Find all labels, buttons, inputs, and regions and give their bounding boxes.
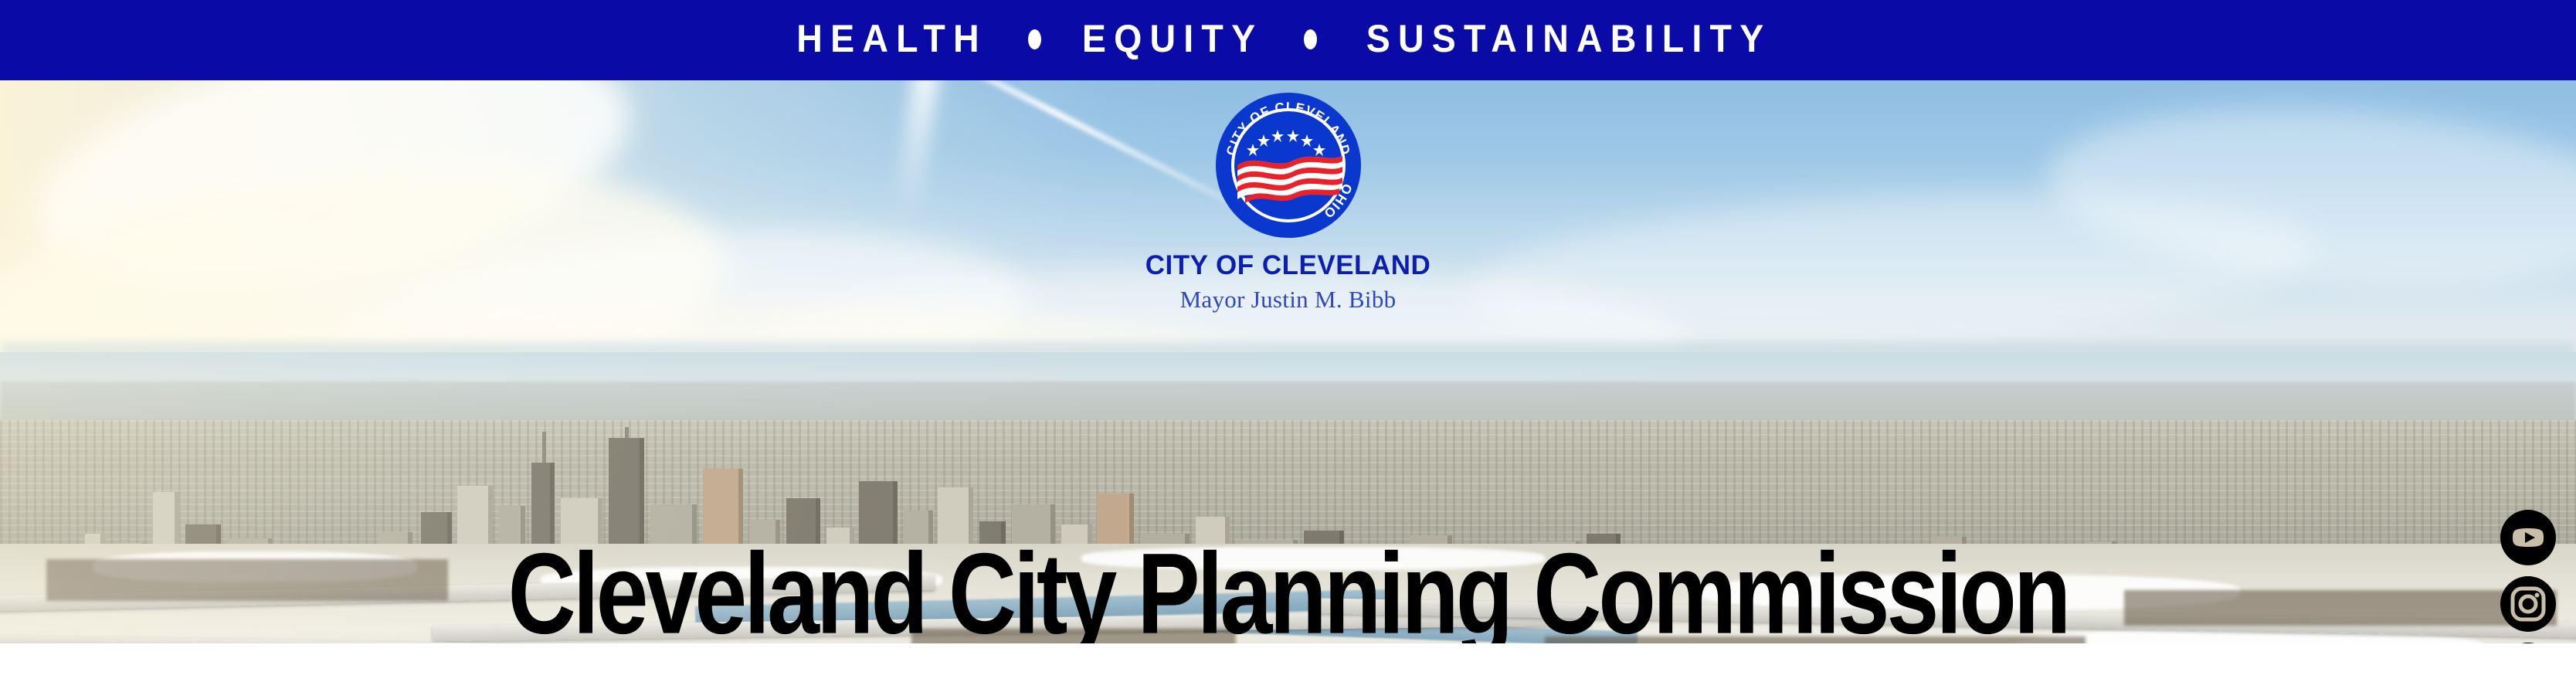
tagline-separator-dot-2 [1304,29,1317,49]
city-name-label: CITY OF CLEVELAND [1145,250,1431,281]
social-link-facebook[interactable] [2500,643,2556,643]
tagline-word-sustainability: SUSTAINABILITY [1366,19,1772,58]
seal-svg: CITY OF CLEVELAND OHIO [1214,91,1363,239]
hero-photo: CITY OF CLEVELAND OHIO CITY OF CLEVELAND… [0,80,2576,643]
mayor-name-label: Mayor Justin M. Bibb [1180,286,1397,314]
page-title: Cleveland City Planning Commission [0,536,2576,643]
tagline-banner: HEALTH EQUITY SUSTAINABILITY [0,0,2576,80]
social-link-instagram[interactable] [2500,576,2556,632]
instagram-icon [2510,585,2547,623]
page-root: HEALTH EQUITY SUSTAINABILITY [0,0,2576,682]
youtube-icon [2510,520,2546,555]
tagline-separator-dot-1 [1028,29,1041,49]
social-links-rail [2500,510,2556,643]
tagline-word-equity: EQUITY [1082,19,1263,58]
city-of-cleveland-seal-icon: CITY OF CLEVELAND OHIO [1214,91,1363,239]
tagline-inner: HEALTH EQUITY SUSTAINABILITY [789,19,1787,58]
social-link-youtube[interactable] [2500,510,2556,565]
tagline-word-health: HEALTH [796,19,987,58]
city-branding-block: CITY OF CLEVELAND OHIO CITY OF CLEVELAND… [0,80,2576,314]
